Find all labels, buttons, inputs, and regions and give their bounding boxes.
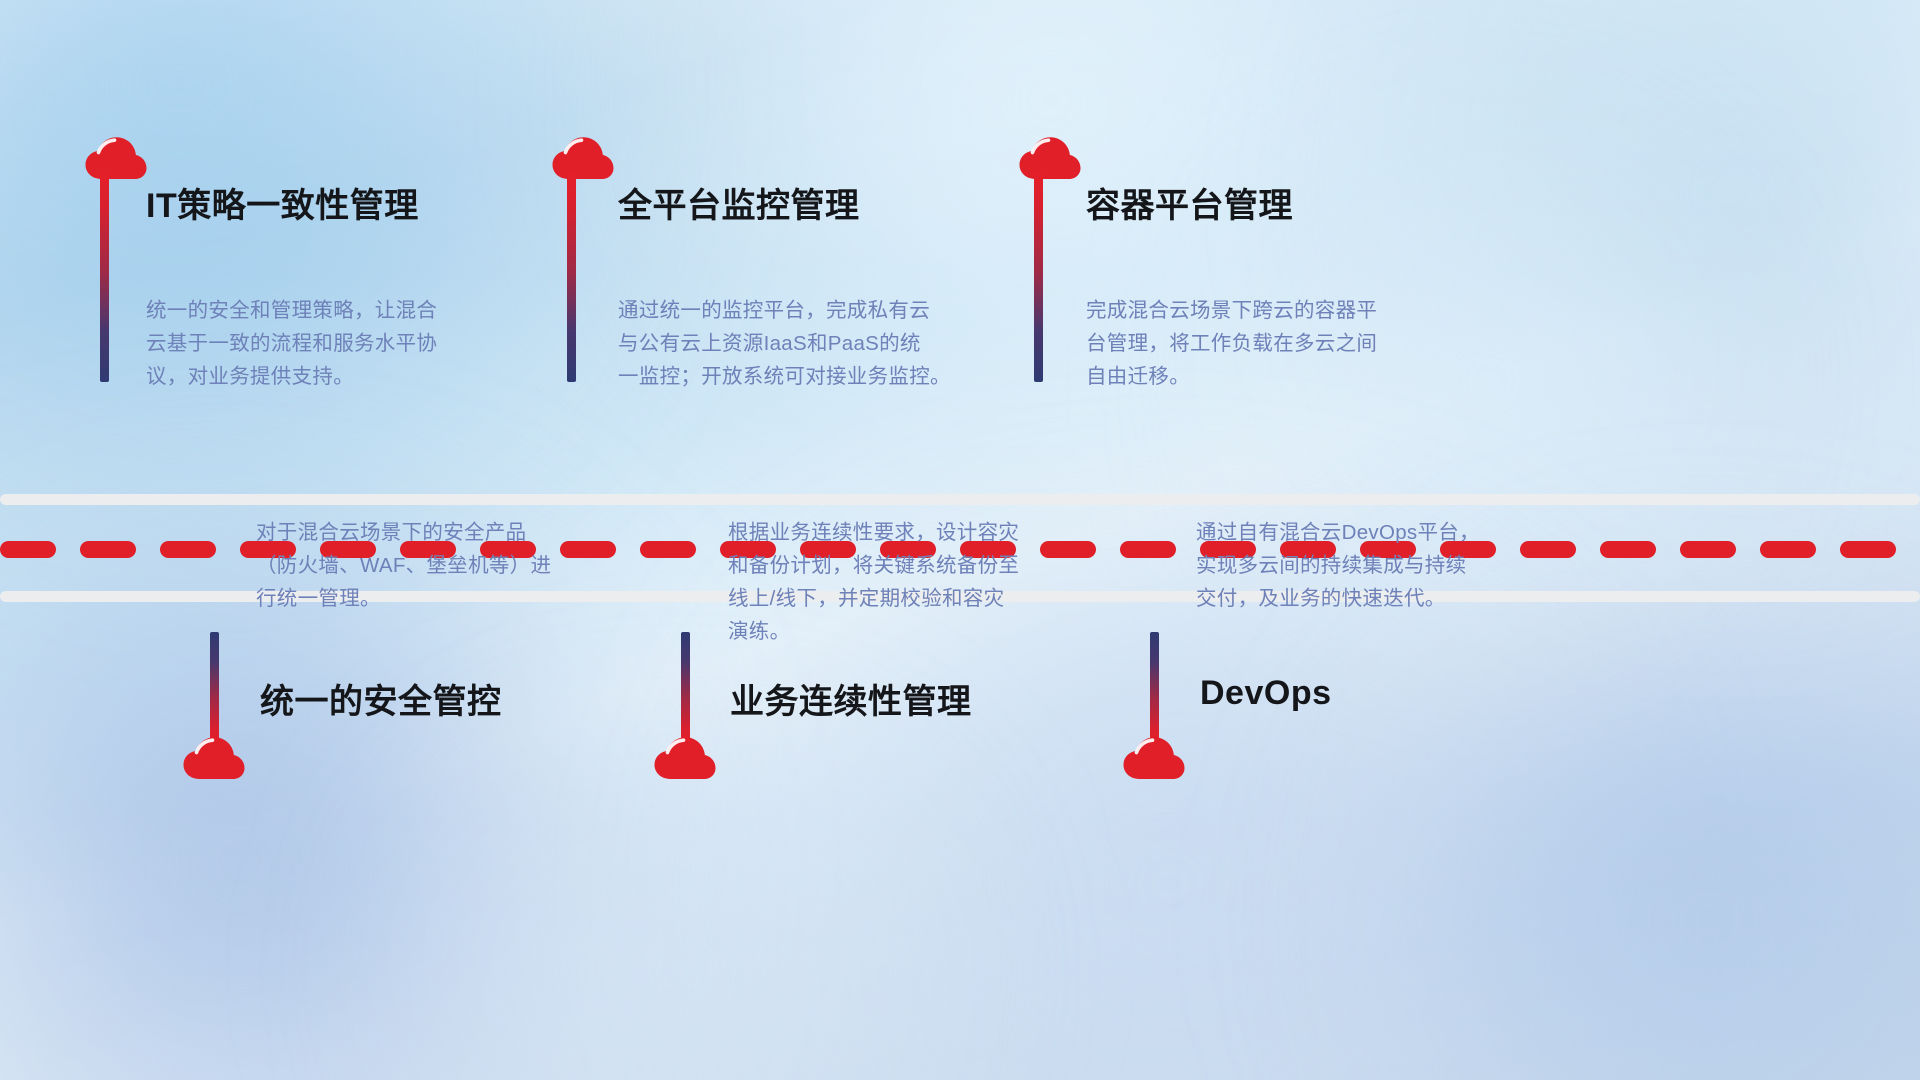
road-dash <box>640 541 696 558</box>
connector-line <box>1150 632 1159 744</box>
cloud-icon <box>653 734 717 782</box>
top-item-heading: 全平台监控管理 <box>618 178 860 227</box>
connector-line <box>210 632 219 744</box>
road-dash <box>0 541 56 558</box>
bottom-item-body: 根据业务连续性要求，设计容灾 和备份计划，将关键系统备份至 线上/线下，并定期校… <box>728 516 1088 648</box>
connector-line <box>100 172 109 382</box>
road-dash <box>160 541 216 558</box>
bottom-item-heading: DevOps <box>1200 674 1332 713</box>
road-dash <box>1120 541 1176 558</box>
bottom-item-heading: 业务连续性管理 <box>730 674 972 723</box>
connector-line <box>681 632 690 744</box>
connector-line <box>567 172 576 382</box>
top-item-body: 完成混合云场景下跨云的容器平 台管理，将工作负载在多云之间 自由迁移。 <box>1086 294 1446 393</box>
top-item-body: 通过统一的监控平台，完成私有云 与公有云上资源IaaS和PaaS的统 一监控；开… <box>618 294 990 393</box>
cloud-icon <box>1018 134 1082 182</box>
road-edge-top <box>0 494 1920 505</box>
bottom-item-body: 对于混合云场景下的安全产品 （防火墙、WAF、堡垒机等）进 行统一管理。 <box>256 516 616 615</box>
cloud-icon <box>1122 734 1186 782</box>
road-dash <box>1760 541 1816 558</box>
road-dash <box>1840 541 1896 558</box>
road-dash <box>1680 541 1736 558</box>
infographic-canvas: IT策略一致性管理 统一的安全和管理策略，让混合 云基于一致的流程和服务水平协 … <box>0 0 1920 1080</box>
road-dash <box>1600 541 1656 558</box>
top-item-heading: IT策略一致性管理 <box>146 178 419 227</box>
top-item-body: 统一的安全和管理策略，让混合 云基于一致的流程和服务水平协 议，对业务提供支持。 <box>146 294 506 393</box>
bottom-item-body: 通过自有混合云DevOps平台， 实现多云间的持续集成与持续 交付，及业务的快速… <box>1196 516 1556 615</box>
top-item-heading: 容器平台管理 <box>1086 178 1293 227</box>
cloud-icon <box>551 134 615 182</box>
cloud-icon <box>84 134 148 182</box>
connector-line <box>1034 172 1043 382</box>
bottom-item-heading: 统一的安全管控 <box>260 674 502 723</box>
cloud-icon <box>182 734 246 782</box>
road-dash <box>80 541 136 558</box>
